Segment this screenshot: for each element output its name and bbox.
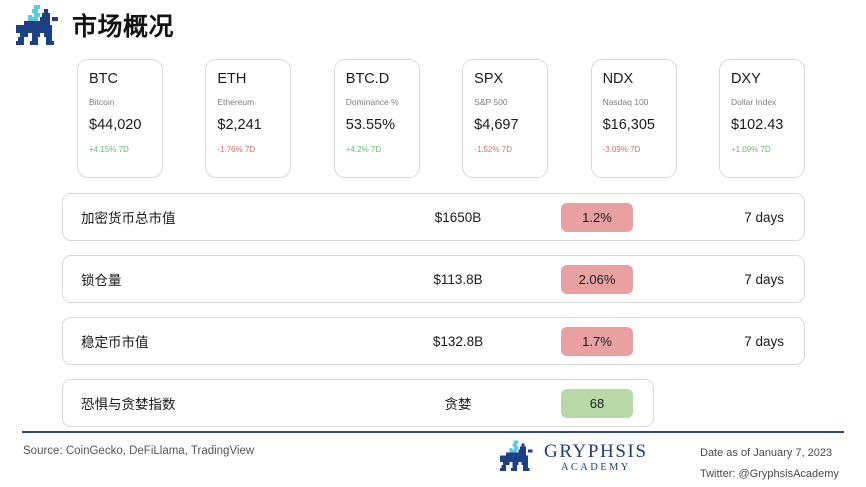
gryphsis-griffin-icon	[497, 440, 537, 476]
metric-card-dxy[interactable]: DXY Dollar Index $102.43 +1.09% 7D	[719, 59, 805, 178]
page-title: 市场概况	[72, 15, 174, 40]
status-badge: 2.06%	[561, 265, 633, 294]
row-label: 稳定币市值	[81, 331, 149, 351]
row-value: $1650B	[363, 210, 553, 225]
status-badge: 1.7%	[561, 327, 633, 356]
row-label: 锁仓量	[81, 269, 122, 289]
metric-value: $44,020	[89, 118, 162, 133]
footer-meta: Date as of January 7, 2023 Twitter: @Gry…	[700, 443, 839, 486]
gryphsis-griffin-icon	[12, 5, 64, 51]
page-footer: Source: CoinGecko, DeFiLlama, TradingVie…	[0, 433, 866, 487]
table-row[interactable]: 加密货币总市值 $1650B 1.2% 7 days	[62, 193, 805, 241]
status-badge: 68	[561, 389, 633, 418]
metric-ticker: BTC.D	[346, 72, 419, 87]
brand-name: GRYPHSIS	[544, 442, 648, 462]
metric-cards: BTC Bitcoin $44,020 +4.15% 7D ETH Ethere…	[77, 59, 805, 178]
row-value: 贪婪	[363, 393, 553, 413]
metric-value: $2,241	[217, 118, 290, 133]
metric-value: $102.43	[731, 118, 804, 133]
row-badge-slot: 1.2%	[561, 203, 633, 232]
metric-change: +4.2% 7D	[346, 146, 419, 154]
brand-subtitle: ACADEMY	[561, 462, 631, 475]
row-badge-slot: 68	[561, 389, 633, 418]
footer-twitter: Twitter: @GryphsisAcademy	[700, 464, 839, 485]
footer-date: Date as of January 7, 2023	[700, 443, 839, 464]
row-period: 7 days	[744, 272, 784, 287]
metric-card-eth[interactable]: ETH Ethereum $2,241 -1.76% 7D	[205, 59, 291, 178]
row-value: $132.8B	[363, 334, 553, 349]
metric-change: -1.52% 7D	[474, 146, 547, 154]
metric-name: Nasdaq 100	[603, 98, 676, 107]
metric-card-ndx[interactable]: NDX Nasdaq 100 $16,305 -3.09% 7D	[591, 59, 677, 178]
row-label: 恐惧与贪婪指数	[81, 393, 176, 413]
metric-name: S&P 500	[474, 98, 547, 107]
metric-ticker: ETH	[217, 72, 290, 87]
metric-ticker: SPX	[474, 72, 547, 87]
table-row[interactable]: 恐惧与贪婪指数 贪婪 68	[62, 379, 654, 427]
metric-name: Dollar Index	[731, 98, 804, 107]
footer-source: Source: CoinGecko, DeFiLlama, TradingVie…	[23, 445, 254, 457]
metric-card-btc[interactable]: BTC Bitcoin $44,020 +4.15% 7D	[77, 59, 163, 178]
metric-ticker: BTC	[89, 72, 162, 87]
metric-change: -3.09% 7D	[603, 146, 676, 154]
row-label: 加密货币总市值	[81, 207, 176, 227]
table-row[interactable]: 稳定币市值 $132.8B 1.7% 7 days	[62, 317, 805, 365]
row-badge-slot: 1.7%	[561, 327, 633, 356]
metric-name: Ethereum	[217, 98, 290, 107]
row-period: 7 days	[744, 334, 784, 349]
metric-ticker: NDX	[603, 72, 676, 87]
metric-card-spx[interactable]: SPX S&P 500 $4,697 -1.52% 7D	[462, 59, 548, 178]
brand-wordmark: GRYPHSIS ACADEMY	[544, 442, 648, 475]
market-stat-rows: 加密货币总市值 $1650B 1.2% 7 days 锁仓量 $113.8B 2…	[62, 193, 805, 441]
metric-change: -1.76% 7D	[217, 146, 290, 154]
row-value: $113.8B	[363, 272, 553, 287]
metric-value: $4,697	[474, 118, 547, 133]
footer-brand: GRYPHSIS ACADEMY	[497, 440, 648, 476]
metric-change: +4.15% 7D	[89, 146, 162, 154]
metric-name: Dominance %	[346, 98, 419, 107]
metric-value: $16,305	[603, 118, 676, 133]
page-header: 市场概况	[0, 0, 866, 55]
table-row[interactable]: 锁仓量 $113.8B 2.06% 7 days	[62, 255, 805, 303]
metric-card-btc-dominance[interactable]: BTC.D Dominance % 53.55% +4.2% 7D	[334, 59, 420, 178]
metric-name: Bitcoin	[89, 98, 162, 107]
metric-change: +1.09% 7D	[731, 146, 804, 154]
metric-value: 53.55%	[346, 118, 419, 133]
row-period: 7 days	[744, 210, 784, 225]
status-badge: 1.2%	[561, 203, 633, 232]
row-badge-slot: 2.06%	[561, 265, 633, 294]
metric-ticker: DXY	[731, 72, 804, 87]
